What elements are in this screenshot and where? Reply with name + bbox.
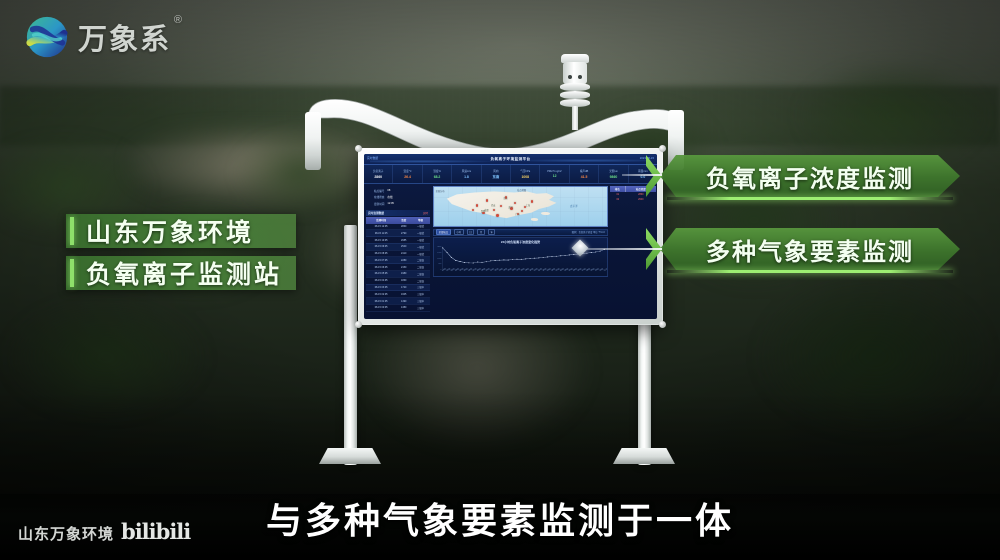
sensor-ring-upper [560, 83, 590, 91]
table-cell: 08-15 07:05 [366, 257, 396, 264]
chart-data-point[interactable] [468, 262, 469, 263]
chart-data-point[interactable] [586, 253, 587, 254]
map-filter-chip[interactable]: 月 [477, 229, 485, 236]
table-cell: 08-15 02:05 [366, 291, 396, 298]
kpi-tile[interactable]: 风速m/s1.8 [452, 165, 481, 183]
kpi-tile[interactable]: 噪声dB41.5 [570, 165, 599, 183]
screen-bracket-br [659, 321, 666, 328]
table-cell: 二级良 [411, 277, 430, 284]
leader-line-bottom [582, 248, 662, 250]
kpi-value: 东南 [492, 174, 499, 179]
chart-data-point[interactable] [455, 260, 456, 261]
table-row[interactable]: 08-15 08:052410一级优 [366, 250, 430, 257]
kpi-label: 风向 [493, 169, 498, 173]
kpi-tile[interactable]: 气压hPa1008 [511, 165, 540, 183]
support-post-left [344, 225, 357, 465]
table-body[interactable]: 08-15 12:052860一级优08-15 11:052790一级优08-1… [366, 224, 430, 312]
kpi-value: 1008 [521, 175, 529, 179]
left-label-company: 山东万象环境 [66, 214, 296, 248]
chart-data-point[interactable] [534, 258, 535, 259]
table-cell: 1605 [396, 291, 411, 298]
brand-logo: 万象系 ® [24, 14, 171, 60]
dashboard-body: 站点编号08在线状态在线更新时间12:05 实时监测数据 实时 监测时间浓度等级… [364, 184, 657, 279]
table-row[interactable]: 08-15 09:052540一级优 [366, 243, 430, 250]
center-panel: 太平洋 全国分布 站点地图 北京西安成都武汉上海广州昆明 全部站点小时日月年图例… [432, 184, 609, 279]
readings-table[interactable]: 监测时间浓度等级 08-15 12:052860一级优08-15 11:0527… [366, 217, 430, 312]
chart-data-point[interactable] [529, 258, 530, 259]
table-cell: 一级优 [411, 237, 430, 244]
table-cell: 08-15 04:05 [366, 277, 396, 284]
table-cell: 08-15 09:05 [366, 243, 396, 250]
kpi-tile[interactable]: 温度℃26.4 [393, 165, 422, 183]
kpi-value: 2860 [374, 175, 382, 179]
chart-y-tick-label: 800 [438, 263, 441, 265]
chart-data-point[interactable] [521, 259, 522, 260]
table-cell: 08-15 06:05 [366, 264, 396, 271]
brand-name: 万象系 ® [78, 16, 171, 58]
table-cell: 2540 [396, 243, 411, 250]
screen-bracket-tl [355, 145, 362, 152]
table-cell: 一级优 [411, 243, 430, 250]
kpi-label: 温度℃ [404, 169, 412, 173]
map-city-label: 西安 [491, 203, 495, 207]
map-city-label: 武汉 [508, 205, 512, 209]
chart-data-point[interactable] [481, 262, 482, 263]
screen-bracket-bl [355, 321, 362, 328]
sensor-port-left [568, 75, 572, 79]
kpi-value: 12 [553, 174, 557, 178]
map-badge-top-center: 站点地图 [517, 188, 526, 192]
station-info-block: 站点编号08在线状态在线更新时间12:05 [366, 186, 430, 210]
chart-data-point[interactable] [560, 255, 561, 256]
table-cell: 二级良 [411, 264, 430, 271]
sensor-mount-stem [572, 106, 578, 130]
china-station-map[interactable]: 太平洋 全国分布 站点地图 北京西安成都武汉上海广州昆明 [433, 186, 608, 227]
table-row[interactable]: 08-15 06:052150二级良 [366, 264, 430, 271]
base-plate-right [613, 448, 675, 464]
chart-data-point[interactable] [564, 255, 565, 256]
kpi-tile[interactable]: 负氧离子2860 [364, 165, 393, 183]
map-island-hainan [531, 218, 538, 220]
chart-y-tick-label: 0 [440, 269, 441, 271]
left-data-panel: 站点编号08在线状态在线更新时间12:05 实时监测数据 实时 监测时间浓度等级… [364, 184, 432, 279]
table-row[interactable]: 08-15 11:052790一级优 [366, 230, 430, 237]
chart-data-point[interactable] [538, 258, 539, 259]
chart-data-point[interactable] [595, 252, 596, 253]
map-city-label: 上海 [526, 203, 530, 207]
kpi-value: 26.4 [404, 175, 411, 179]
table-cell: 2150 [396, 264, 411, 271]
table-cell: 一级优 [411, 230, 430, 237]
table-cell: 三级中 [411, 291, 430, 298]
chart-data-point[interactable] [573, 254, 574, 255]
table-cell: 1980 [396, 271, 411, 278]
kpi-label: 湿度% [433, 169, 441, 173]
map-station-marker[interactable] [531, 200, 533, 202]
chart-y-tick-label: 1600 [437, 258, 441, 260]
kpi-tile-row: 负氧离子2860温度℃26.4湿度%68.2风速m/s1.8风向东南气压hPa1… [364, 165, 657, 184]
callout-underline-bottom [667, 270, 953, 273]
table-cell: 08-15 08:05 [366, 250, 396, 257]
map-city-label: 昆明 [481, 209, 485, 213]
chart-data-point[interactable] [442, 248, 443, 249]
kpi-label: 噪声dB [580, 169, 588, 173]
kpi-label: PM2.5 ug/m³ [547, 170, 562, 173]
station-info-row: 站点编号08 [374, 189, 428, 193]
chart-data-point[interactable] [451, 257, 452, 258]
table-cell: 2685 [396, 237, 411, 244]
table-cell: 08-15 00:05 [366, 304, 396, 311]
callout-underline-top [667, 197, 953, 200]
registered-mark: ® [174, 14, 184, 26]
table-cell: 三级中 [411, 284, 430, 291]
station-info-value: 在线 [387, 195, 392, 199]
left-label-product: 负氧离子监测站 [66, 256, 296, 290]
table-cell: 2410 [396, 250, 411, 257]
chart-data-point[interactable] [525, 258, 526, 259]
leader-line-top [622, 174, 662, 176]
kpi-tile[interactable]: 风向东南 [482, 165, 511, 183]
chart-data-point[interactable] [551, 256, 552, 257]
station-info-value: 08 [387, 189, 390, 193]
callout-weather-elements: 多种气象要素监测 [660, 228, 960, 270]
chart-data-point[interactable] [503, 259, 504, 260]
chart-data-point[interactable] [599, 251, 600, 252]
base-plate-left [319, 448, 381, 464]
map-filter-chip[interactable]: 全部站点 [436, 229, 451, 236]
dashboard-title: 负氧离子环境监测平台 [364, 157, 657, 162]
chart-data-point[interactable] [499, 260, 500, 261]
chart-x-tick-label: 12:30 [604, 268, 607, 271]
kpi-value: 1.8 [464, 175, 469, 179]
table-row[interactable]: 08-15 05:051980二级良 [366, 271, 430, 278]
chart-data-point[interactable] [473, 263, 474, 264]
kpi-tile[interactable]: 湿度%68.2 [423, 165, 452, 183]
chart-data-point[interactable] [508, 260, 509, 261]
station-info-row: 更新时间12:05 [374, 202, 428, 206]
table-cell: 08-15 01:05 [366, 298, 396, 305]
table-cell: 二级良 [411, 271, 430, 278]
table-cell: 2790 [396, 230, 411, 237]
left-label-product-text: 负氧离子监测站 [86, 255, 282, 291]
display-screen-frame: 实时数据 负氧离子环境监测平台 2023-08-15 负氧离子2860温度℃26… [358, 148, 663, 325]
table-row[interactable]: 08-15 03:051720三级中 [366, 284, 430, 291]
chart-data-point[interactable] [446, 252, 447, 253]
air-quality-sensor [558, 54, 592, 130]
sensor-body [563, 62, 587, 84]
ranking-cell: 02 [610, 197, 626, 202]
ranking-rows[interactable]: 012860022640 [610, 192, 656, 202]
sensor-ring-mid [560, 91, 590, 99]
table-section-title: 实时监测数据 [368, 211, 384, 215]
brand-name-text: 万象系 [78, 24, 171, 56]
table-cell: 1380 [396, 304, 411, 311]
map-sea-label: 太平洋 [570, 204, 578, 208]
chart-data-point[interactable] [516, 259, 517, 260]
callout-weather-elements-text: 多种气象要素监测 [706, 232, 914, 267]
map-filter-chip[interactable]: 年 [488, 229, 496, 236]
map-city-label: 北京 [503, 196, 507, 200]
table-cell: 08-15 05:05 [366, 271, 396, 278]
kpi-value: 41.5 [581, 175, 588, 179]
kpi-value: 9860 [610, 175, 618, 179]
ranking-row[interactable]: 022640 [610, 197, 656, 202]
table-cell: 08-15 10:05 [366, 237, 396, 244]
table-cell: 二级良 [411, 257, 430, 264]
ranking-cell: 2640 [626, 197, 656, 202]
sensor-port-right [578, 75, 582, 79]
callout-negative-ion-text: 负氧离子浓度监测 [706, 159, 914, 194]
chart-data-point[interactable] [494, 260, 495, 261]
dashboard-header: 实时数据 负氧离子环境监测平台 2023-08-15 [364, 154, 657, 165]
table-cell: 三级中 [411, 298, 430, 305]
chart-y-tick-label: 3200 [437, 246, 441, 248]
table-row[interactable]: 08-15 10:052685一级优 [366, 237, 430, 244]
station-info-key: 在线状态 [374, 195, 384, 199]
chart-data-point[interactable] [459, 261, 460, 262]
map-station-marker[interactable] [521, 210, 523, 212]
map-toolbar[interactable]: 全部站点小时日月年图例：负氧离子浓度 单位 个/cm³ [433, 229, 608, 236]
map-filter-chip[interactable]: 小时 [454, 229, 464, 236]
table-cell: 1490 [396, 298, 411, 305]
table-section-header: 实时监测数据 实时 [366, 210, 430, 216]
table-row[interactable]: 08-15 00:051380三级中 [366, 304, 430, 311]
table-row[interactable]: 08-15 01:051490三级中 [366, 298, 430, 305]
table-row[interactable]: 08-15 04:051860二级良 [366, 277, 430, 284]
map-badge-top-left: 全国分布 [436, 189, 445, 193]
globe-swirl-icon [24, 14, 70, 60]
map-station-marker[interactable] [496, 214, 498, 216]
map-filter-chip[interactable]: 日 [467, 229, 475, 236]
kpi-tile[interactable]: PM2.5 ug/m³12 [540, 165, 569, 183]
station-info-key: 更新时间 [374, 202, 384, 206]
station-info-key: 站点编号 [374, 189, 384, 193]
table-cell: 08-15 03:05 [366, 284, 396, 291]
chart-data-point[interactable] [556, 256, 557, 257]
map-station-marker[interactable] [476, 204, 478, 206]
kpi-label: 光照lux [609, 169, 618, 173]
left-label-company-text: 山东万象环境 [86, 213, 254, 249]
chart-data-point[interactable] [512, 259, 513, 260]
chart-data-point[interactable] [464, 262, 465, 263]
monitoring-dashboard[interactable]: 实时数据 负氧离子环境监测平台 2023-08-15 负氧离子2860温度℃26… [364, 154, 657, 319]
chart-data-point[interactable] [490, 260, 491, 261]
table-cell: 1860 [396, 277, 411, 284]
table-cell: 2280 [396, 257, 411, 264]
table-row[interactable]: 08-15 02:051605三级中 [366, 291, 430, 298]
chart-y-tick-label: 2400 [437, 252, 441, 254]
kpi-label: 负氧离子 [373, 169, 383, 173]
table-cell: 一级优 [411, 250, 430, 257]
station-info-value: 12:05 [387, 202, 394, 206]
chart-data-point[interactable] [543, 257, 544, 258]
chart-data-point[interactable] [477, 262, 478, 263]
callout-negative-ion: 负氧离子浓度监测 [660, 155, 960, 197]
kpi-value: 68.2 [434, 175, 441, 179]
video-subtitle: 与多种气象要素监测于一体 [0, 492, 1000, 544]
screen-bracket-tr [659, 145, 666, 152]
bottom-overlay-bar: 山东万象环境 bilibili 与多种气象要素监测于一体 [0, 494, 1000, 560]
kpi-label: 雨量mm [638, 169, 648, 173]
chart-data-point[interactable] [547, 257, 548, 258]
table-section-badge: 实时 [423, 211, 428, 215]
map-city-label: 广州 [515, 212, 519, 216]
video-frame: 万象系 ® [0, 0, 1000, 560]
station-info-row: 在线状态在线 [374, 195, 428, 199]
kpi-label: 气压hPa [520, 169, 530, 173]
map-legend-text: 图例：负氧离子浓度 单位 个/cm³ [572, 230, 605, 234]
table-cell: 08-15 11:05 [366, 230, 396, 237]
chart-data-point[interactable] [591, 252, 592, 253]
table-cell: 1720 [396, 284, 411, 291]
table-cell: 三级中 [411, 304, 430, 311]
chart-data-point[interactable] [569, 255, 570, 256]
table-row[interactable]: 08-15 07:052280二级良 [366, 257, 430, 264]
kpi-label: 风速m/s [462, 169, 471, 173]
chart-data-point[interactable] [486, 261, 487, 262]
left-label-group: 山东万象环境 负氧离子监测站 [66, 214, 296, 298]
